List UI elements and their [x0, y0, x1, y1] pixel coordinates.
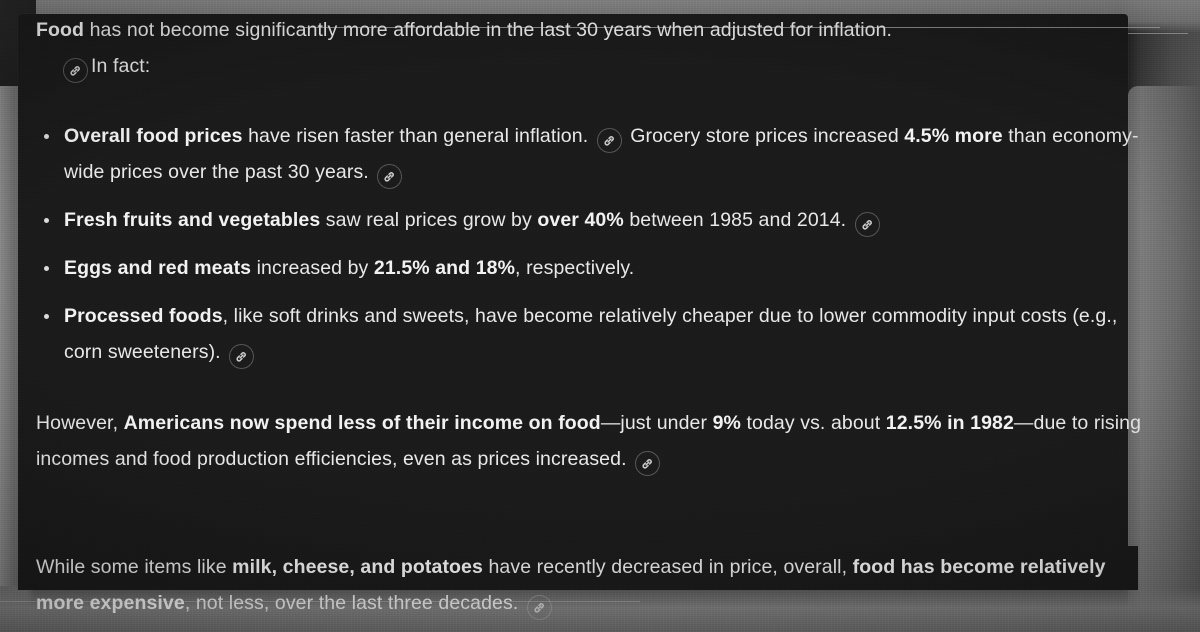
link-icon[interactable]: [855, 212, 880, 237]
body-text: saw real prices grow by: [320, 209, 537, 231]
list-item-fresh-fruits-vegetables: Fresh fruits and vegetables saw real pri…: [36, 202, 1146, 238]
lead-paragraph: Food has not become significantly more a…: [36, 12, 1156, 84]
lead-rest-text: has not become significantly more afford…: [84, 19, 892, 41]
body-text: today vs. about: [741, 412, 886, 434]
emphasis-text: Fresh fruits and vegetables: [64, 209, 320, 231]
body-text: , not less, over the last three decades.: [185, 592, 524, 614]
lead-line-1: Food has not become significantly more a…: [36, 12, 1156, 48]
body-text: increased by: [251, 257, 374, 279]
link-icon[interactable]: [597, 128, 622, 153]
body-text: —just under: [601, 412, 713, 434]
link-icon[interactable]: [63, 58, 88, 83]
body-text: , respectively.: [515, 257, 634, 279]
emphasis-text: 4.5% more: [904, 125, 1002, 147]
body-text: between 1985 and 2014.: [624, 209, 852, 231]
lead-bold-term: Food: [36, 19, 84, 41]
answer-body: Food has not become significantly more a…: [0, 0, 1200, 632]
body-text: While some items like: [36, 556, 232, 578]
emphasis-text: over 40%: [537, 209, 623, 231]
list-item-overall-food-prices: Overall food prices have risen faster th…: [36, 118, 1146, 190]
lead-second-line-text: In fact:: [91, 55, 150, 77]
lead-line-2: In fact:: [36, 48, 1156, 84]
body-text: , like soft drinks and sweets, have beco…: [64, 305, 1117, 363]
link-icon[interactable]: [527, 595, 552, 620]
list-item-processed-foods: Processed foods, like soft drinks and sw…: [36, 298, 1146, 370]
emphasis-text: 21.5% and 18%: [374, 257, 515, 279]
emphasis-text: Processed foods: [64, 305, 223, 327]
emphasis-text: 9%: [713, 412, 741, 434]
link-icon[interactable]: [377, 164, 402, 189]
body-text: Grocery store prices increased: [625, 125, 905, 147]
body-text: have risen faster than general inflation…: [243, 125, 594, 147]
emphasis-text: 12.5% in 1982: [886, 412, 1014, 434]
body-text: However,: [36, 412, 124, 434]
link-icon[interactable]: [635, 451, 660, 476]
claims-bullet-list: Overall food prices have risen faster th…: [36, 118, 1146, 382]
screenshot-stage: Food has not become significantly more a…: [0, 0, 1200, 632]
emphasis-text: Americans now spend less of their income…: [124, 412, 601, 434]
list-item-eggs-red-meats: Eggs and red meats increased by 21.5% an…: [36, 250, 1146, 286]
emphasis-text: Overall food prices: [64, 125, 243, 147]
emphasis-text: Eggs and red meats: [64, 257, 251, 279]
emphasis-text: milk, cheese, and potatoes: [232, 556, 483, 578]
body-text: have recently decreased in price, overal…: [483, 556, 853, 578]
while-paragraph: While some items like milk, cheese, and …: [36, 549, 1151, 621]
link-icon[interactable]: [229, 344, 254, 369]
however-paragraph: However, Americans now spend less of the…: [36, 405, 1151, 477]
